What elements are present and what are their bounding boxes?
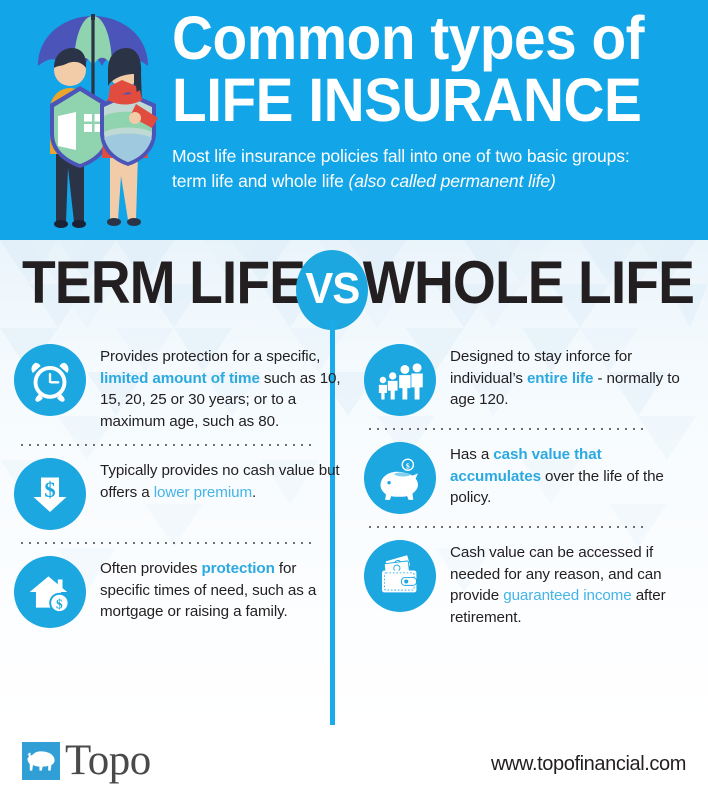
alarm-clock-icon [14, 344, 86, 416]
whole-life-heading: WHOLE LIFE [363, 253, 694, 313]
header-subtitle-line1: Most life insurance policies fall into o… [172, 146, 630, 166]
vs-badge-label: VS [305, 267, 359, 314]
list-item: $ Typically provides no cash value but o… [14, 458, 344, 530]
separator-dotted [366, 428, 648, 430]
text-seg: Has a [450, 446, 493, 463]
page-title-line1: Common types of [172, 10, 665, 68]
separator-dotted [18, 542, 314, 544]
list-item: Designed to stay inforce for individual’… [364, 344, 694, 416]
couple-with-umbrella-illustration [18, 8, 168, 236]
house-with-dollar-icon: $ [14, 556, 86, 628]
separator-dotted [366, 526, 648, 528]
website-url[interactable]: www.topofinancial.com [491, 753, 686, 776]
text-seg-highlight: entire life [527, 370, 593, 387]
comparison-section: TERM LIFE VS WHOLE LIFE [0, 240, 708, 725]
wallet-with-cash-icon [364, 540, 436, 612]
list-item-text: Often provides protection for specific t… [100, 556, 344, 623]
page-title-line2: LIFE INSURANCE [172, 72, 665, 130]
text-seg: . [252, 484, 256, 501]
dollar-down-arrow-icon: $ [14, 458, 86, 530]
whole-life-column: Designed to stay inforce for individual’… [364, 344, 694, 628]
comparison-headline: TERM LIFE VS WHOLE LIFE [0, 245, 708, 340]
list-item-text: Cash value can be accessed if needed for… [450, 540, 694, 628]
list-item-text: Designed to stay inforce for individual’… [450, 344, 694, 411]
text-seg-highlight: lower premium [154, 484, 252, 501]
text-seg: Often provides [100, 560, 202, 577]
brand-name: Topo [65, 739, 151, 782]
family-group-icon [364, 344, 436, 416]
list-item-text: Typically provides no cash value but off… [100, 458, 344, 503]
svg-text:$: $ [56, 597, 63, 612]
header-text-block: Common types of LIFE INSURANCE Most life… [172, 6, 702, 194]
header-banner: Common types of LIFE INSURANCE Most life… [0, 0, 708, 240]
infographic-page: Common types of LIFE INSURANCE Most life… [0, 0, 708, 800]
term-life-heading: TERM LIFE [22, 253, 305, 313]
bison-logo-icon [22, 742, 60, 780]
footer: Topo www.topofinancial.com [0, 725, 708, 800]
list-item: $ Often provides protection for specific… [14, 556, 344, 628]
text-seg: Provides protection for a specific, [100, 348, 320, 365]
list-item-text: Has a cash value that accumulates over t… [450, 442, 694, 509]
list-item: $ Has a cash value that accumulates over… [364, 442, 694, 514]
text-seg-highlight: guaranteed income [503, 587, 631, 604]
list-item: Provides protection for a specific, limi… [14, 344, 344, 432]
header-subtitle-line2: term life and whole life [172, 171, 348, 191]
brand-logo[interactable]: Topo [22, 739, 151, 782]
text-seg-highlight: limited amount of time [100, 370, 260, 387]
text-seg-highlight: protection [202, 560, 275, 577]
vs-badge: VS [296, 250, 368, 330]
header-subtitle-italic: (also called permanent life) [348, 171, 555, 191]
header-subtitle: Most life insurance policies fall into o… [172, 144, 702, 194]
piggy-bank-icon: $ [364, 442, 436, 514]
svg-text:$: $ [44, 477, 55, 502]
list-item-text: Provides protection for a specific, limi… [100, 344, 344, 432]
list-item: Cash value can be accessed if needed for… [364, 540, 694, 628]
term-life-column: Provides protection for a specific, limi… [14, 344, 344, 628]
separator-dotted [18, 444, 314, 446]
svg-text:$: $ [406, 462, 410, 471]
